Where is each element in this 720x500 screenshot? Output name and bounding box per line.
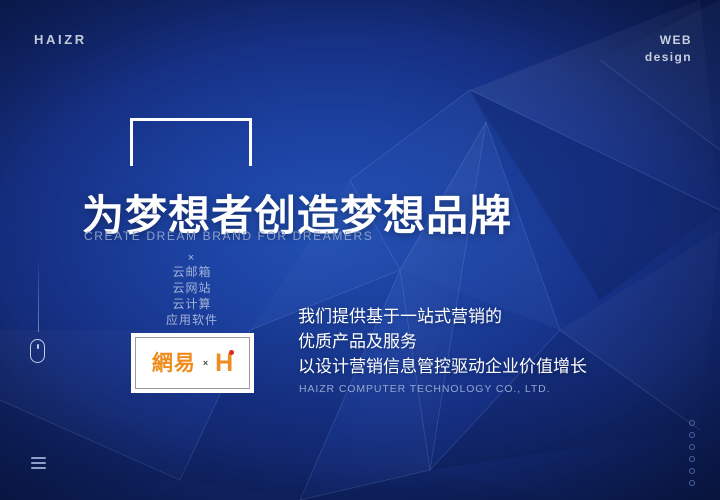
web-design-label: WEB design — [645, 32, 692, 66]
list-item[interactable]: 云邮箱 — [131, 264, 253, 280]
pager-dot[interactable] — [689, 468, 695, 474]
web-design-line1: WEB — [645, 32, 692, 49]
body-copy: 我们提供基于一站式营销的 优质产品及服务 以设计营销信息管控驱动企业价值增长 — [298, 305, 587, 380]
product-list: 云邮箱 云网站 云计算 应用软件 — [131, 264, 253, 328]
pager-dot[interactable] — [689, 420, 695, 426]
list-item[interactable]: 应用软件 — [131, 312, 253, 328]
body-copy-line1: 我们提供基于一站式营销的 — [298, 305, 587, 330]
cross-divider-icon: × — [184, 252, 198, 264]
netease-logo: 網易 — [152, 353, 196, 374]
mouse-scroll-icon[interactable] — [30, 339, 45, 363]
haizr-logo-dot-icon — [229, 350, 234, 355]
slide-pager[interactable] — [689, 420, 695, 486]
brand-logo[interactable]: HAIZR — [34, 32, 87, 47]
pager-dot[interactable] — [689, 480, 695, 486]
list-item[interactable]: 云计算 — [131, 296, 253, 312]
partner-logo-card[interactable]: 網易 × H — [131, 333, 254, 393]
pager-dot[interactable] — [689, 444, 695, 450]
haizr-h-logo: H — [215, 351, 233, 376]
scroll-rail-line — [38, 256, 39, 332]
company-name-en: HAIZR COMPUTER TECHNOLOGY CO., LTD. — [299, 383, 550, 395]
hamburger-menu-icon[interactable] — [31, 457, 46, 470]
partner-logo-card-inner: 網易 × H — [135, 337, 250, 389]
web-design-line2: design — [645, 49, 692, 66]
body-copy-line2: 优质产品及服务 — [298, 330, 587, 355]
decorative-bracket-frame — [130, 118, 252, 166]
list-item[interactable]: 云网站 — [131, 280, 253, 296]
body-copy-line3: 以设计营销信息管控驱动企业价值增长 — [298, 355, 587, 380]
background-vignette — [0, 0, 720, 500]
pager-dot[interactable] — [689, 432, 695, 438]
page-subtitle: CREATE DREAM BRAND FOR DREAMERS — [84, 229, 373, 243]
partnership-cross-icon: × — [203, 359, 208, 368]
slide-canvas: HAIZR WEB design 为梦想者创造梦想品牌 CREATE DREAM… — [0, 0, 720, 500]
pager-dot[interactable] — [689, 456, 695, 462]
